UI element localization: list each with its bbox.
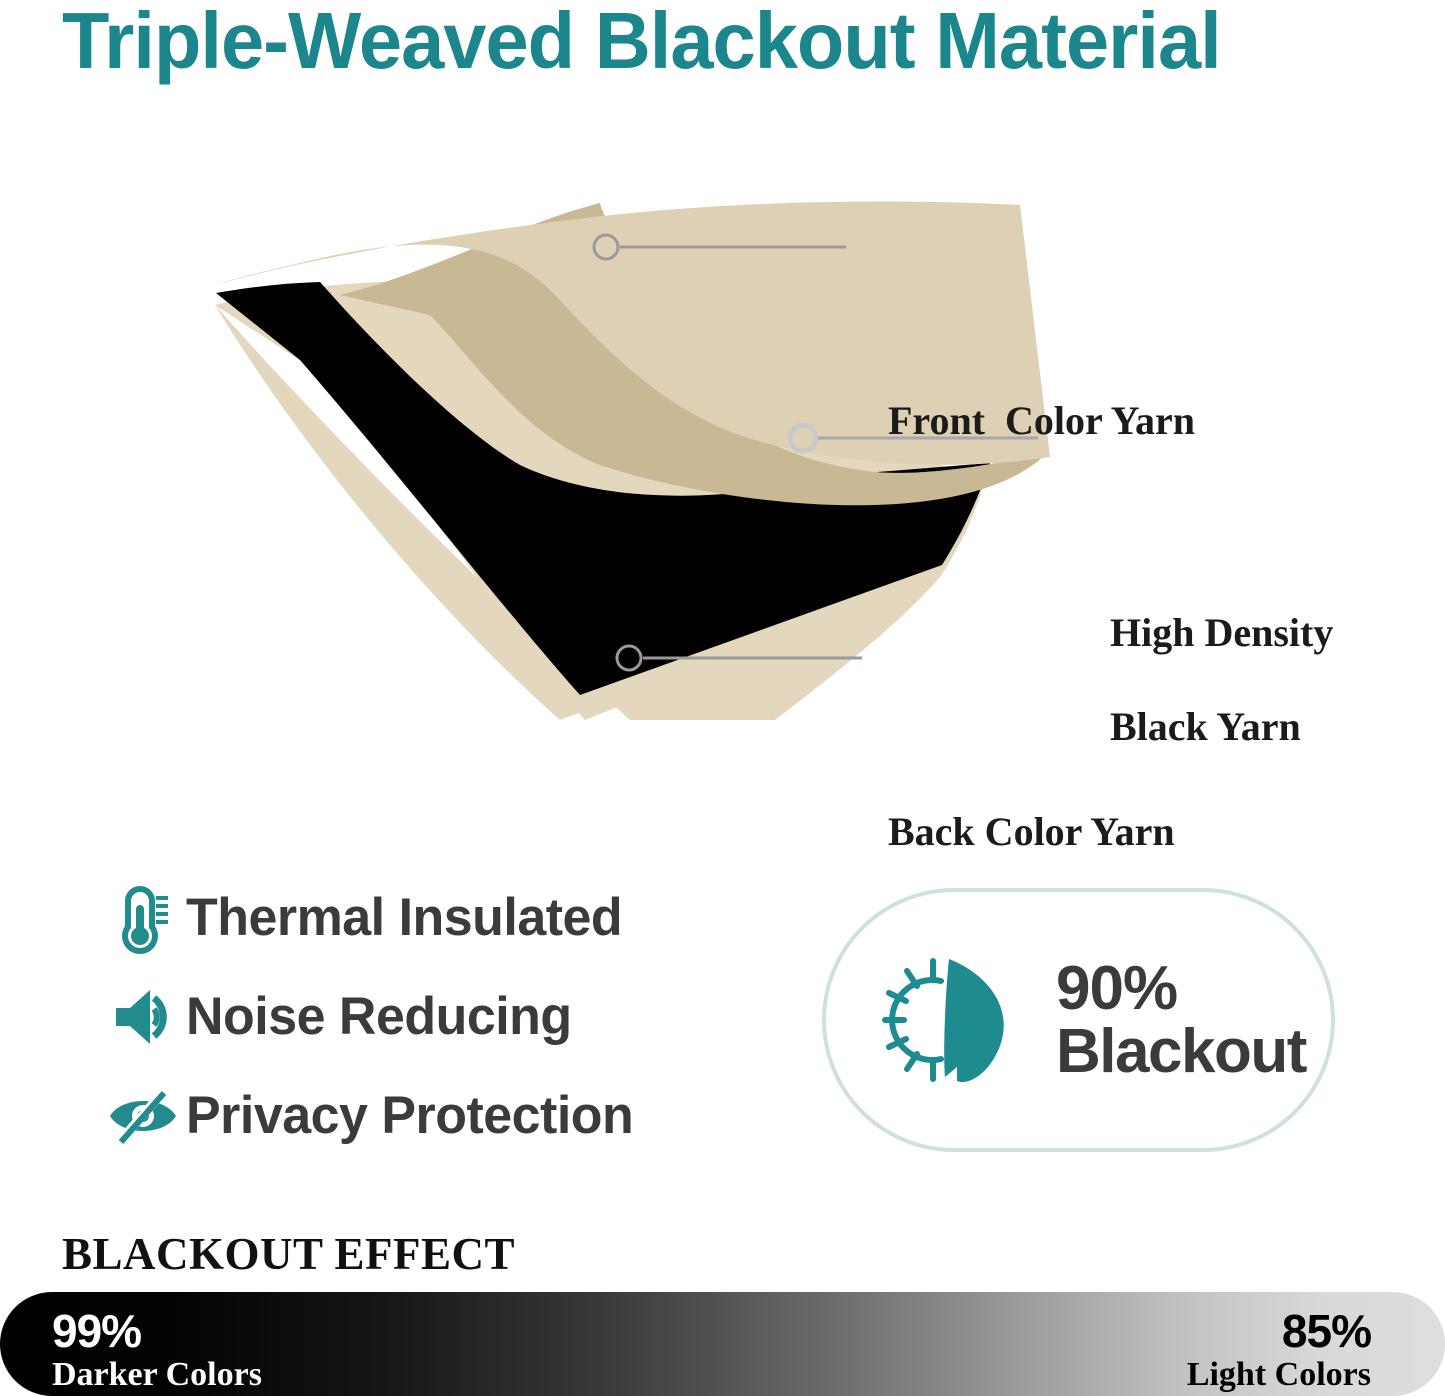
label-high-density-line2: Black Yarn	[1110, 704, 1301, 749]
blackout-effect-heading: BLACKOUT EFFECT	[62, 1228, 515, 1280]
feature-list: Thermal Insulated Noise Reducing	[100, 868, 760, 1165]
fabric-layers-diagram: Front Color Yarn High Density Black Yarn…	[0, 175, 1445, 755]
darker-colors-percent: 99%	[52, 1306, 262, 1356]
feature-label-thermal-insulated: Thermal Insulated	[186, 887, 622, 948]
label-high-density-black-yarn: High Density Black Yarn	[1070, 562, 1333, 797]
light-colors-caption: Light Colors	[1187, 1356, 1371, 1394]
feature-label-privacy-protection: Privacy Protection	[186, 1085, 633, 1146]
blackout-percentage-badge: 90% Blackout	[822, 888, 1335, 1152]
feature-item-thermal-insulated: Thermal Insulated	[100, 868, 760, 967]
blackout-badge-percent: 90%	[1056, 957, 1306, 1020]
blackout-effect-gradient-bar: 99% Darker Colors 85% Light Colors	[0, 1292, 1445, 1396]
blackout-effect-light-colors: 85% Light Colors	[1187, 1306, 1371, 1394]
eye-slash-icon	[100, 1087, 186, 1145]
speaker-icon	[100, 986, 186, 1048]
label-back-color-yarn: Back Color Yarn	[888, 808, 1175, 855]
blackout-badge-text: 90% Blackout	[1056, 957, 1306, 1083]
thermometer-icon	[100, 881, 186, 955]
feature-item-privacy-protection: Privacy Protection	[100, 1066, 760, 1165]
blackout-effect-darker-colors: 99% Darker Colors	[52, 1306, 262, 1394]
sun-blackout-icon	[826, 945, 1056, 1095]
blackout-badge-label: Blackout	[1056, 1020, 1306, 1083]
light-colors-percent: 85%	[1187, 1306, 1371, 1356]
label-front-color-yarn: Front Color Yarn	[888, 397, 1195, 444]
darker-colors-caption: Darker Colors	[52, 1356, 262, 1394]
page-title: Triple-Weaved Blackout Material	[62, 0, 1362, 86]
feature-item-noise-reducing: Noise Reducing	[100, 967, 760, 1066]
label-high-density-line1: High Density	[1110, 610, 1333, 655]
feature-label-noise-reducing: Noise Reducing	[186, 986, 572, 1047]
